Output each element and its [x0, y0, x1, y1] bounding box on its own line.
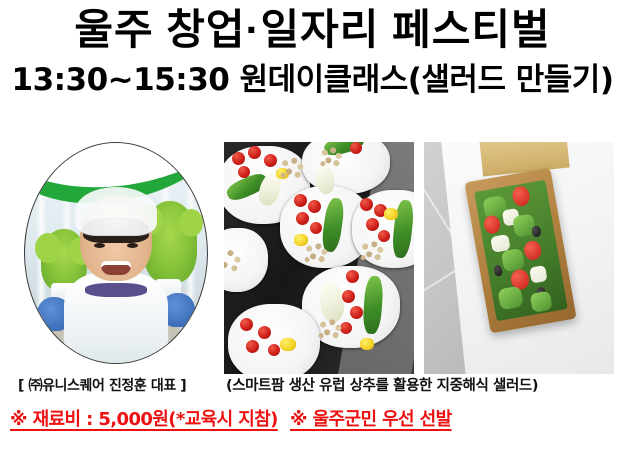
person-smile — [101, 261, 131, 275]
photo-captions: [ ㈜유니스퀘어 진정훈 대표 ] (스마트팜 생산 유럽 상추를 활용한 지중… — [0, 376, 625, 402]
notice-material-fee: ※ 재료비 : 5,000원(*교육시 지참) — [10, 408, 278, 432]
salad-contents — [474, 180, 567, 322]
cherry-tomato — [360, 198, 373, 211]
black-olive — [493, 265, 503, 277]
hairnet-cap — [75, 187, 157, 236]
cherry-tomato — [238, 166, 250, 178]
tomato-slice — [483, 215, 502, 236]
notice-row: ※ 재료비 : 5,000원(*교육시 지참) ※ 울주군민 우선 선발 — [0, 408, 625, 442]
poster-header: 울주 창업·일자리 페스티벌 13:30~15:30 원데이클래스(샐러드 만들… — [0, 0, 625, 100]
black-olive — [531, 226, 541, 238]
cherry-tomato — [346, 270, 359, 283]
nuts — [320, 146, 344, 168]
cherry-tomato — [294, 194, 307, 207]
nuts — [224, 248, 244, 274]
cherry-tomato — [350, 142, 362, 154]
nuts — [280, 156, 306, 180]
cherry-tomato — [246, 340, 259, 353]
page-title: 울주 창업·일자리 페스티벌 — [0, 6, 625, 54]
cherry-tomato — [342, 290, 355, 303]
caption-salad-description: (스마트팜 생산 유럽 상추를 활용한 지중해식 샐러드) — [226, 376, 538, 396]
person-eye-right — [127, 243, 138, 248]
cherry-tomato — [264, 154, 277, 167]
nuts — [304, 242, 330, 264]
cherry-tomato — [366, 218, 379, 231]
cherry-tomato — [240, 318, 253, 331]
cherry-tomato — [258, 326, 271, 339]
person-eye-left — [94, 243, 105, 248]
photo-finished-salad-box — [424, 142, 614, 374]
cherry-tomato — [268, 344, 280, 356]
tomato-slice — [522, 240, 542, 262]
lettuce-piece — [497, 286, 523, 311]
nuts — [360, 240, 386, 262]
yellow-pepper — [360, 338, 374, 350]
photo-row — [0, 140, 625, 374]
lettuce-piece — [530, 291, 553, 313]
poster-subtitle: 13:30~15:30 원데이클래스(샐러드 만들기) — [0, 60, 625, 100]
cheese-piece — [530, 265, 548, 283]
cherry-tomato — [350, 306, 363, 319]
cherry-tomato — [310, 222, 322, 234]
photo-vegetable-plates — [224, 142, 414, 374]
tomato-slice — [511, 186, 531, 208]
yellow-pepper — [280, 338, 296, 351]
event-poster: 울주 창업·일자리 페스티벌 13:30~15:30 원데이클래스(샐러드 만들… — [0, 0, 625, 449]
yellow-pepper — [384, 208, 398, 220]
nuts — [318, 318, 344, 340]
cherry-tomato — [232, 152, 245, 165]
notice-resident-priority: ※ 울주군민 우선 선발 — [290, 408, 452, 432]
caption-instructor: [ ㈜유니스퀘어 진정훈 대표 ] — [18, 376, 186, 396]
collar — [85, 283, 147, 297]
cherry-tomato — [296, 212, 309, 225]
photo-smart-farm-portrait — [24, 142, 208, 364]
cherry-tomato — [308, 200, 321, 213]
serving-plate — [228, 304, 320, 374]
cherry-tomato — [248, 146, 261, 159]
